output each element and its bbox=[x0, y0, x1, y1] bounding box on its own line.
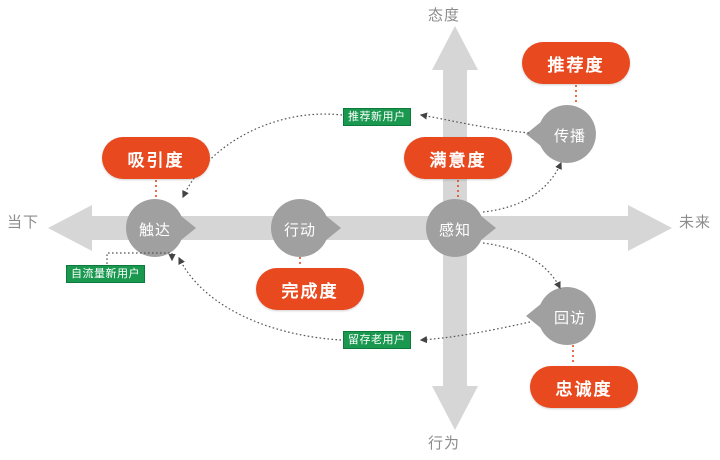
metric-box-attract[interactable]: 吸引度 bbox=[102, 137, 210, 179]
flow-perceive-to-revisit bbox=[483, 243, 560, 288]
axis-label-left: 当下 bbox=[7, 211, 39, 232]
stage-node-shape-action[interactable] bbox=[271, 199, 341, 257]
stage-node-shape-perceive[interactable] bbox=[426, 199, 496, 257]
metric-box-satisfy[interactable]: 满意度 bbox=[404, 137, 512, 179]
axis-label-right: 未来 bbox=[679, 211, 711, 232]
metric-box-recommend[interactable]: 推荐度 bbox=[522, 42, 630, 84]
tag-retained-old-users[interactable]: 留存老用户 bbox=[343, 331, 411, 349]
diagram-canvas: 态度 行为 当下 未来 触达 行动 感知 传播 回访 吸引度 满意度 推荐度 完… bbox=[0, 0, 720, 460]
flow-spread-to-referral bbox=[421, 115, 529, 133]
stage-node-shape-revisit[interactable] bbox=[526, 287, 596, 345]
axis-label-up: 态度 bbox=[428, 4, 460, 25]
tag-new-users-organic[interactable]: 自流量新用户 bbox=[66, 265, 145, 283]
axis-label-down: 行为 bbox=[428, 432, 460, 453]
stage-node-shape-touch[interactable] bbox=[126, 199, 196, 257]
metric-box-complete[interactable]: 完成度 bbox=[256, 268, 364, 310]
metric-box-loyalty[interactable]: 忠诚度 bbox=[530, 366, 638, 408]
tag-new-users-referred[interactable]: 推荐新用户 bbox=[343, 108, 411, 126]
stage-node-shape-spread[interactable] bbox=[526, 105, 596, 163]
flow-revisit-to-retention bbox=[421, 322, 530, 340]
